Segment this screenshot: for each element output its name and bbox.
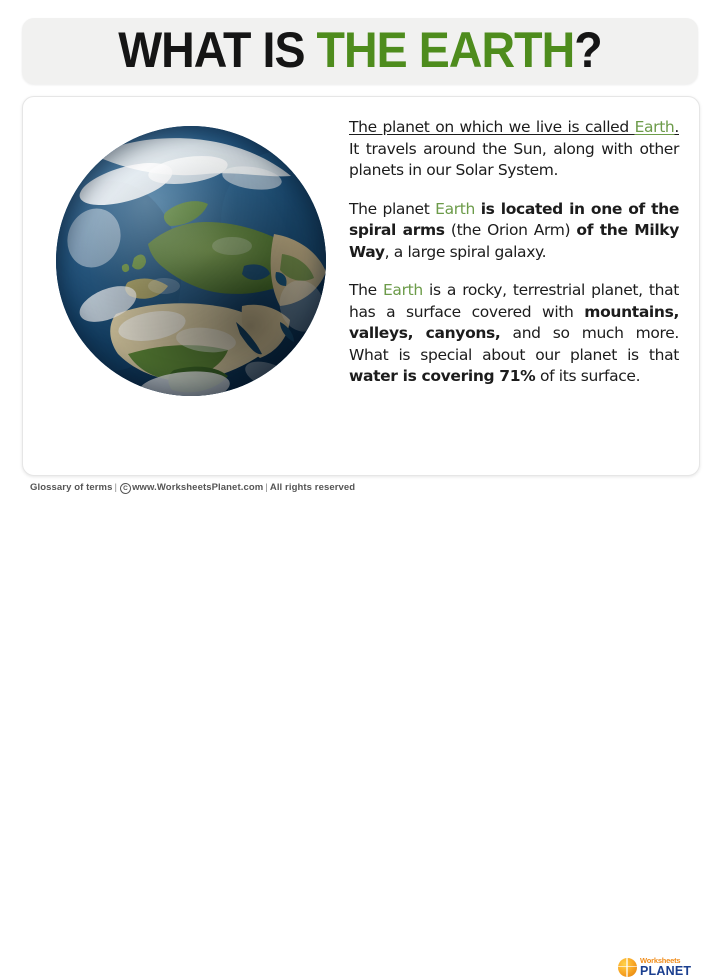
text-segment: Earth	[383, 281, 423, 299]
footer: Glossary of terms|Cwww.WorksheetsPlanet.…	[0, 478, 720, 509]
logo-globe-icon	[618, 958, 637, 977]
text-segment: It travels around the Sun, along with ot…	[349, 140, 679, 180]
content-card: The planet on which we live is called Ea…	[22, 96, 700, 476]
footer-credits: Glossary of terms|Cwww.WorksheetsPlanet.…	[30, 482, 355, 494]
paragraph-2: The planet Earth is located in one of th…	[349, 199, 679, 264]
text-segment: The planet on which we live is called	[349, 118, 635, 136]
worksheet-page: WHAT IS THE EARTH?	[0, 0, 720, 509]
paragraph-3: The Earth is a rocky, terrestrial planet…	[349, 280, 679, 388]
title-part-black-2: ?	[574, 22, 601, 78]
earth-globe-graphic	[56, 126, 326, 396]
title-part-black-1: WHAT IS	[118, 22, 316, 78]
text-segment: The	[349, 281, 383, 299]
footer-separator-2: |	[263, 482, 270, 493]
worksheets-planet-logo[interactable]: Worksheets PLANET	[618, 955, 700, 979]
definition-text: The planet on which we live is called Ea…	[349, 117, 679, 388]
text-segment: water is covering 71%	[349, 367, 535, 385]
footer-separator-1: |	[112, 482, 119, 493]
logo-top-word: Worksheets	[640, 957, 691, 965]
text-segment: .	[674, 118, 679, 136]
paragraph-1: The planet on which we live is called Ea…	[349, 117, 679, 182]
text-segment: Earth	[435, 200, 475, 218]
logo-wordmark: Worksheets PLANET	[640, 957, 691, 978]
copyright-icon: C	[120, 483, 131, 494]
text-segment: The planet	[349, 200, 435, 218]
page-title: WHAT IS THE EARTH?	[118, 25, 602, 78]
illustration-pane	[23, 97, 333, 475]
footer-rights: All rights reserved	[270, 482, 355, 493]
footer-website: www.WorksheetsPlanet.com	[132, 482, 263, 493]
logo-bottom-word: PLANET	[640, 965, 691, 978]
title-part-green: THE EARTH	[317, 22, 575, 78]
text-segment: of its surface.	[535, 367, 640, 385]
earth-globe	[56, 126, 326, 396]
text-segment: Earth	[635, 118, 675, 136]
glossary-label: Glossary of terms	[30, 482, 112, 493]
text-segment: (the Orion Arm)	[445, 221, 577, 239]
text-segment: , a large spiral galaxy.	[385, 243, 547, 261]
title-card: WHAT IS THE EARTH?	[22, 18, 698, 84]
